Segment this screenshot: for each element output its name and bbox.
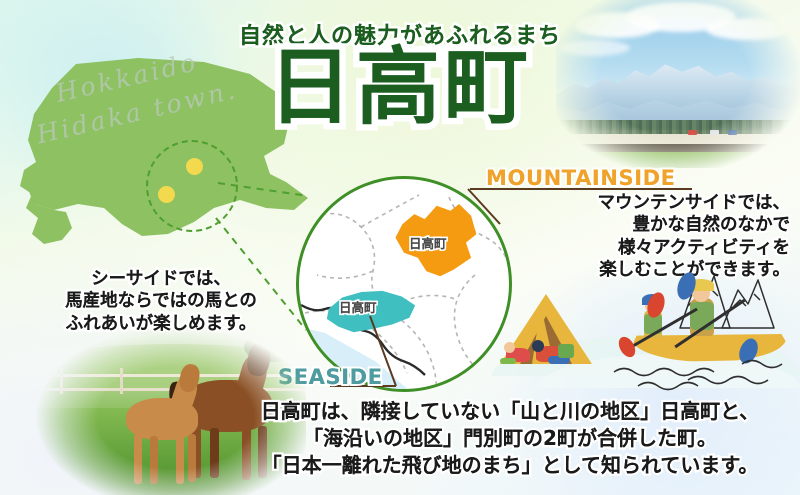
location-dot-sea: [158, 186, 175, 203]
mountainside-body: マウンテンサイドでは、 豊かな自然のなかで 様々アクティビティを 楽しむことがで…: [500, 192, 790, 282]
detail-map: 日高町 日高町 日高町 日高町: [296, 176, 512, 392]
outdoor-illustration: [492, 276, 800, 394]
footer-text: 日高町は、隣接していない「山と川の地区」日高町と、 「海沿いの地区」門別町の2町…: [230, 398, 790, 478]
map-label-mountain: 日高町: [409, 233, 447, 252]
page-title: 日高町: [0, 42, 800, 133]
zoom-area-circle: [146, 140, 238, 232]
seaside-body: シーサイドでは、 馬産地ならではの馬との ふれあいが楽しめます。: [30, 268, 292, 335]
mountainside-label: MOUNTAINSIDE: [486, 166, 676, 190]
location-dot-mountain: [186, 158, 203, 175]
water-ripples: [492, 276, 800, 394]
poster-canvas: Hokkaido Hidaka town. 自然と人の魅力があふれるまち 自然と…: [0, 0, 800, 495]
map-label-sea: 日高町: [339, 297, 377, 316]
map-municipal-borders: [299, 179, 512, 392]
